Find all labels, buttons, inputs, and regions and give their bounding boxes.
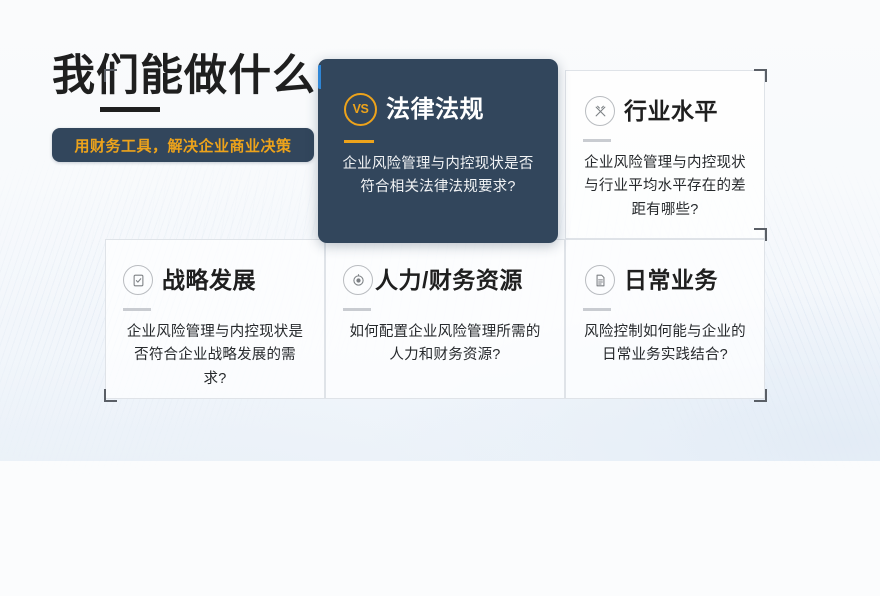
card-strategy-title: 战略发展	[162, 269, 256, 292]
card-daily-head: 日常业务	[583, 265, 747, 295]
slide-canvas: 我们能做什么? 用财务工具，解决企业商业决策	[0, 0, 880, 461]
vs-circle-icon: VS	[344, 93, 377, 126]
cards-grid: 行业水平 企业风险管理与内控现状与行业平均水平存在的差距有哪些? 战略发展 企业…	[105, 239, 765, 399]
card-daily-body: 风险控制如何能与企业的日常业务实践结合?	[583, 321, 747, 368]
card-industry-head: 行业水平	[583, 96, 747, 126]
card-resource-divider	[343, 308, 371, 311]
crossed-tools-icon	[585, 96, 615, 126]
clipboard-check-icon	[123, 265, 153, 295]
card-daily-title: 日常业务	[624, 269, 718, 292]
card-strategy-divider	[123, 308, 151, 311]
coin-icon	[343, 265, 373, 295]
card-resource[interactable]: 人力/财务资源 如何配置企业风险管理所需的人力和财务资源?	[325, 239, 565, 399]
card-legal-body: 企业风险管理与内控现状是否符合相关法律法规要求?	[340, 153, 536, 200]
card-strategy-body: 企业风险管理与内控现状是否符合企业战略发展的需求?	[123, 321, 307, 391]
card-resource-head: 人力/财务资源	[343, 265, 547, 295]
card-industry-divider	[583, 139, 611, 142]
card-legal-divider	[344, 140, 374, 143]
card-legal-head: VS 法律法规	[340, 93, 536, 126]
card-industry-title: 行业水平	[624, 100, 718, 123]
vs-icon-label: VS	[353, 103, 369, 116]
card-daily[interactable]: 日常业务 风险控制如何能与企业的日常业务实践结合?	[565, 239, 765, 399]
card-resource-body: 如何配置企业风险管理所需的人力和财务资源?	[343, 321, 547, 368]
card-daily-divider	[583, 308, 611, 311]
title-underline	[100, 107, 160, 112]
card-legal-featured[interactable]: VS 法律法规 企业风险管理与内控现状是否符合相关法律法规要求?	[318, 59, 558, 243]
document-icon	[585, 265, 615, 295]
card-strategy-head: 战略发展	[123, 265, 307, 295]
subtitle-text: 用财务工具，解决企业商业决策	[74, 135, 291, 156]
card-strategy[interactable]: 战略发展 企业风险管理与内控现状是否符合企业战略发展的需求?	[105, 239, 325, 399]
subtitle-banner: 用财务工具，解决企业商业决策	[52, 128, 314, 162]
card-resource-title: 人力/财务资源	[375, 269, 523, 292]
heading-block: 我们能做什么? 用财务工具，解决企业商业决策	[52, 52, 342, 162]
card-legal-title: 法律法规	[386, 98, 484, 122]
card-industry-body: 企业风险管理与内控现状与行业平均水平存在的差距有哪些?	[583, 152, 747, 222]
page-title: 我们能做什么?	[52, 52, 342, 100]
card-industry[interactable]: 行业水平 企业风险管理与内控现状与行业平均水平存在的差距有哪些?	[565, 70, 765, 239]
